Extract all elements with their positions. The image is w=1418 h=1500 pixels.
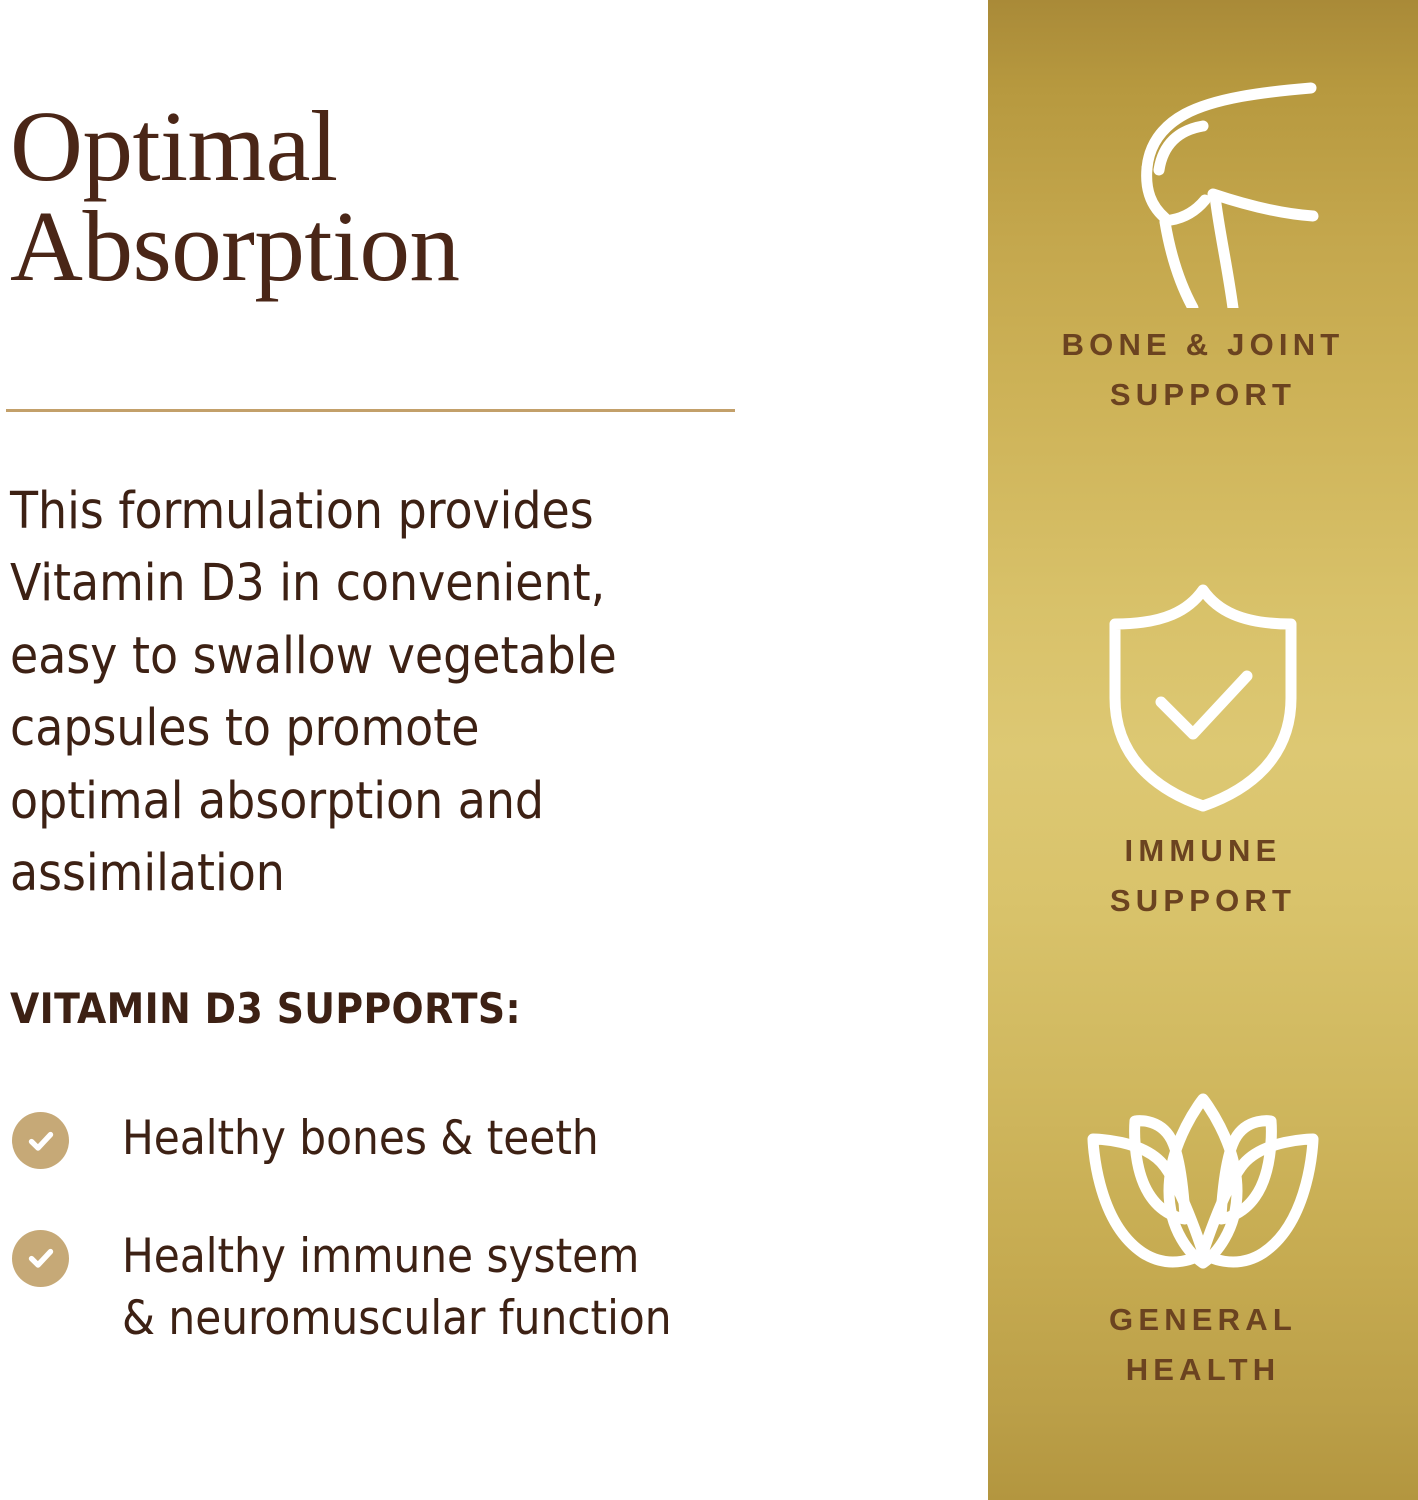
- benefit-general-health: GENERAL HEALTH: [988, 1088, 1418, 1395]
- benefit-label: BONE & JOINT SUPPORT: [988, 320, 1418, 420]
- check-icon: [12, 1230, 69, 1287]
- list-item: Healthy immune system & neuromuscular fu…: [10, 1226, 770, 1351]
- supports-heading: VITAMIN D3 SUPPORTS:: [10, 988, 521, 1030]
- left-content-column: Optimal Absorption This formulation prov…: [0, 0, 988, 1500]
- supports-bullet-list: Healthy bones & teeth Healthy immune sys…: [10, 1108, 770, 1351]
- body-description: This formulation provides Vitamin D3 in …: [10, 476, 750, 910]
- knee-joint-icon: [988, 72, 1418, 308]
- page-title: Optimal Absorption: [10, 96, 790, 296]
- title-divider-rule: [6, 409, 735, 412]
- benefits-gold-panel: BONE & JOINT SUPPORT IMMUNE SUPPORT: [988, 0, 1418, 1500]
- shield-check-icon: [988, 578, 1418, 814]
- list-item-label: Healthy bones & teeth: [122, 1108, 770, 1171]
- product-benefits-infographic: Optimal Absorption This formulation prov…: [0, 0, 1418, 1500]
- list-item: Healthy bones & teeth: [10, 1108, 770, 1171]
- check-icon: [12, 1112, 69, 1169]
- list-item-label: Healthy immune system & neuromuscular fu…: [122, 1226, 770, 1351]
- benefit-immune: IMMUNE SUPPORT: [988, 578, 1418, 926]
- benefit-bone-joint: BONE & JOINT SUPPORT: [988, 72, 1418, 420]
- benefit-label: GENERAL HEALTH: [988, 1295, 1418, 1395]
- lotus-flower-icon: [988, 1088, 1418, 1283]
- benefit-label: IMMUNE SUPPORT: [988, 826, 1418, 926]
